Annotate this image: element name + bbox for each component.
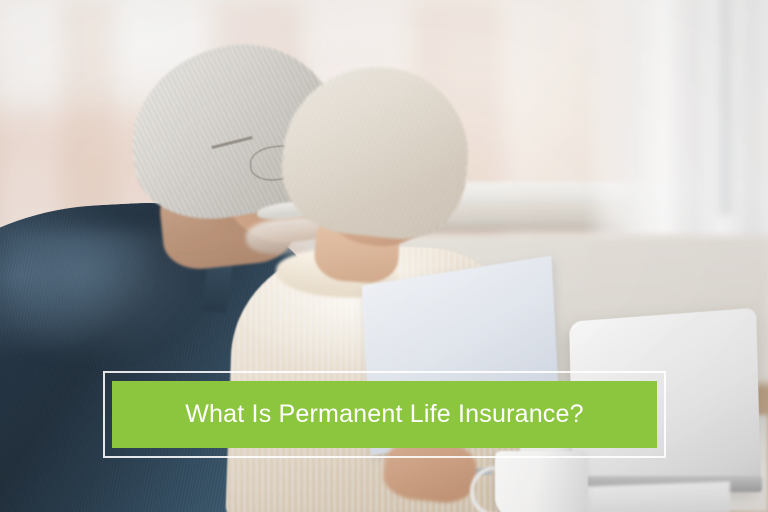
curtain-fold [714,0,737,215]
title-banner: What Is Permanent Life Insurance? [112,381,657,448]
coffee-mug [495,451,587,512]
page-title: What Is Permanent Life Insurance? [185,402,583,427]
sheer-curtain [584,0,768,236]
screenshot-canvas: What Is Permanent Life Insurance? [0,0,768,512]
